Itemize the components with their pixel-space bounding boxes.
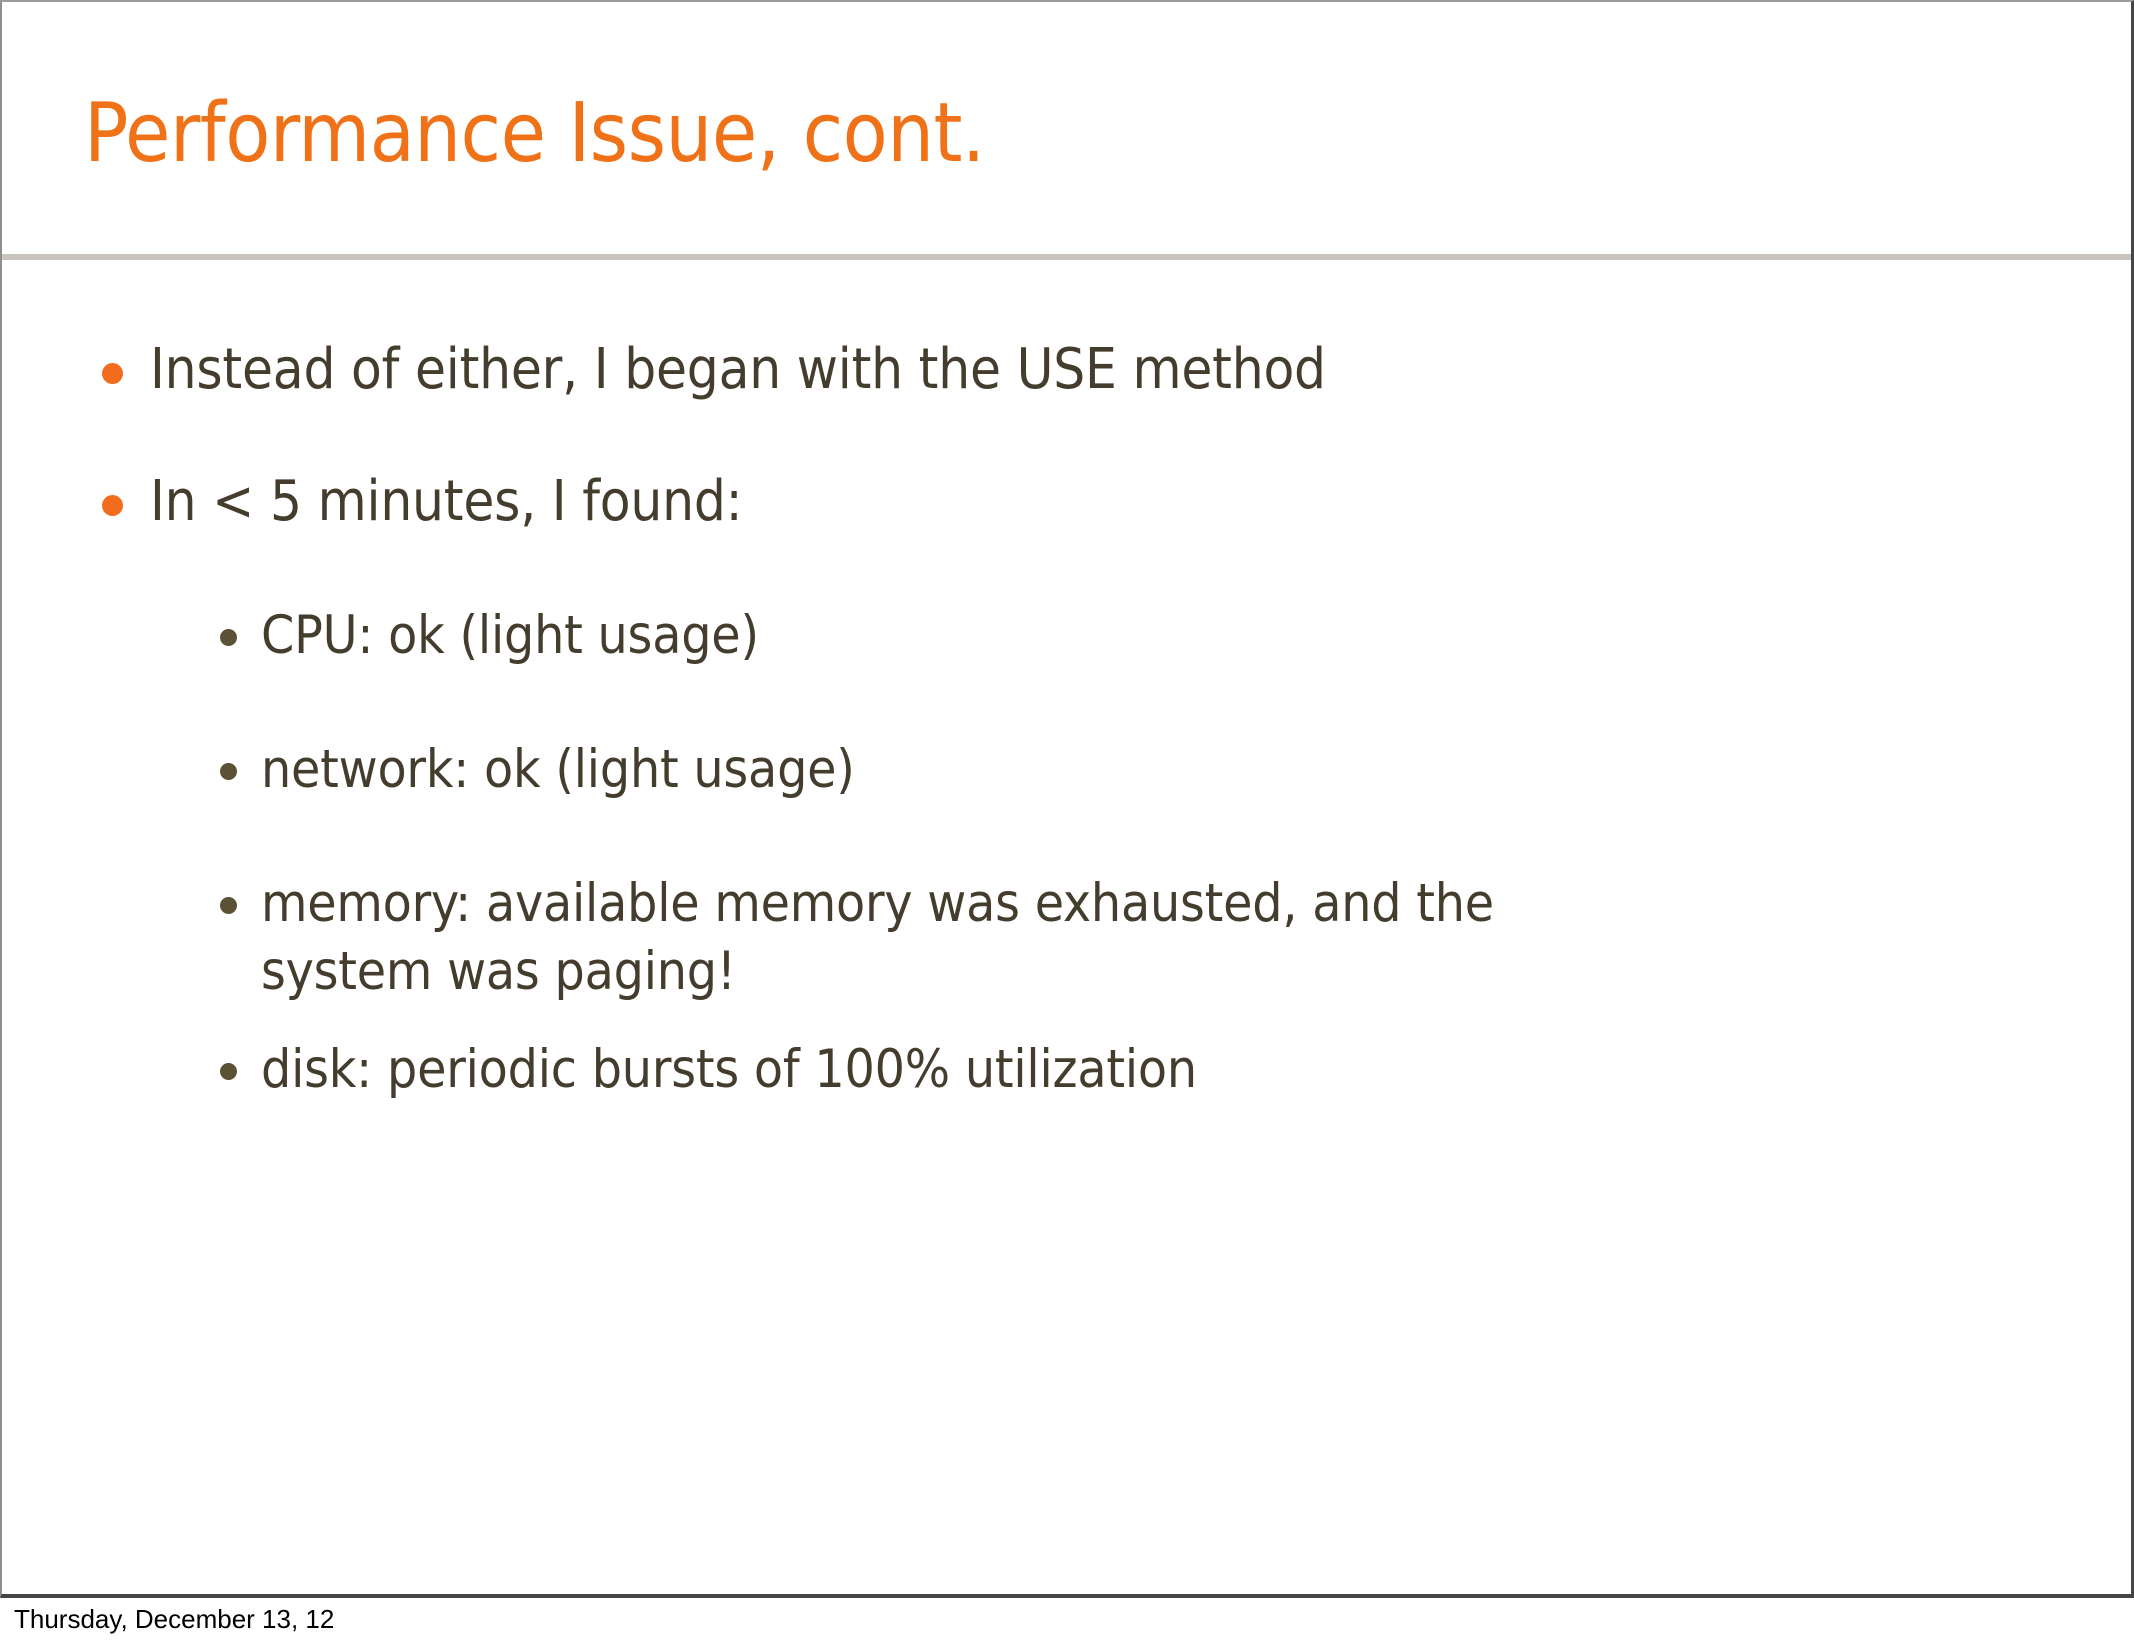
bullet-item-level2: disk: periodic bursts of 100% utilizatio… bbox=[220, 1036, 2050, 1104]
slide-footer-date: Thursday, December 13, 12 bbox=[14, 1602, 334, 1636]
bullet-text: network: ok (light usage) bbox=[261, 736, 855, 804]
bullet-dot-icon bbox=[220, 763, 237, 780]
bullet-text: In < 5 minutes, I found: bbox=[150, 466, 742, 538]
bullet-text: CPU: ok (light usage) bbox=[261, 602, 759, 670]
slide-body-block: Instead of either, I began with the USE … bbox=[2, 258, 2134, 1596]
bullet-item-level1: Instead of either, I began with the USE … bbox=[102, 334, 2062, 406]
bullet-item-level2: network: ok (light usage) bbox=[220, 736, 2050, 804]
bullet-dot-icon bbox=[220, 897, 237, 914]
bullet-dot-icon bbox=[220, 1063, 237, 1080]
page-title: Performance Issue, cont. bbox=[84, 84, 985, 184]
bullet-text: disk: periodic bursts of 100% utilizatio… bbox=[261, 1036, 1197, 1104]
bullet-item-level2: CPU: ok (light usage) bbox=[220, 602, 2050, 670]
bullet-item-level1: In < 5 minutes, I found: bbox=[102, 466, 2062, 538]
bullet-text: memory: available memory was exhausted, … bbox=[261, 870, 1641, 1006]
bullet-dot-icon bbox=[102, 363, 123, 384]
bullet-item-level2: memory: available memory was exhausted, … bbox=[220, 870, 2050, 1006]
bullet-text: Instead of either, I began with the USE … bbox=[150, 334, 1326, 406]
bullet-dot-icon bbox=[102, 495, 123, 516]
bullet-dot-icon bbox=[220, 629, 237, 646]
slide-title-block: Performance Issue, cont. bbox=[2, 2, 2134, 258]
presentation-slide: Performance Issue, cont. Instead of eith… bbox=[0, 0, 2134, 1598]
